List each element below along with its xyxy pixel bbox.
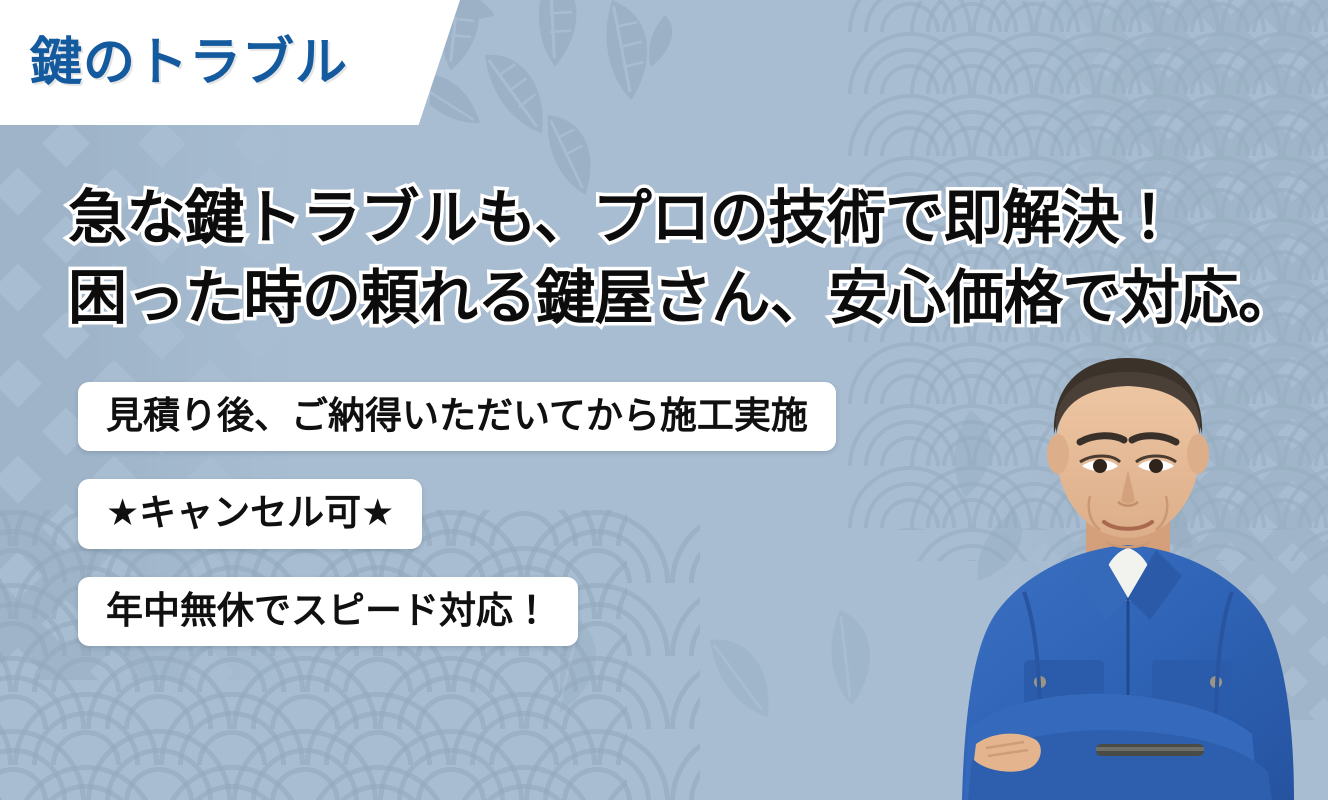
feature-label: 見積り後、ご納得いただいてから施工実施 bbox=[106, 395, 808, 436]
feature-label: ★キャンセル可★ bbox=[106, 492, 394, 533]
staff-photo-figure bbox=[962, 358, 1294, 800]
header-ribbon: 鍵のトラブル bbox=[0, 0, 460, 125]
headline-line-2: 困った時の頼れる鍵屋さん、安心価格で対応。 bbox=[68, 258, 1278, 338]
feature-list: 見積り後、ご納得いただいてから施工実施 ★キャンセル可★ 年中無休でスピード対応… bbox=[78, 382, 836, 646]
feature-label: 年中無休でスピード対応！ bbox=[106, 590, 550, 631]
pupil-right bbox=[1149, 459, 1163, 473]
page-title: 鍵のトラブル bbox=[30, 37, 348, 89]
ear-right bbox=[1187, 434, 1209, 474]
ad-banner: 鍵のトラブル 急な鍵トラブルも、プロの技術で即解決！ 困った時の頼れる鍵屋さん、… bbox=[0, 0, 1328, 800]
ear-left bbox=[1047, 434, 1069, 474]
feature-pill: 年中無休でスピード対応！ bbox=[78, 577, 578, 646]
feature-pill: ★キャンセル可★ bbox=[78, 479, 422, 548]
headline-line-1: 急な鍵トラブルも、プロの技術で即解決！ bbox=[68, 178, 1278, 258]
pupil-left bbox=[1093, 459, 1107, 473]
staff-photo bbox=[928, 330, 1328, 800]
zipper-teeth bbox=[1096, 747, 1204, 751]
headline-block: 急な鍵トラブルも、プロの技術で即解決！ 困った時の頼れる鍵屋さん、安心価格で対応… bbox=[68, 178, 1278, 338]
feature-pill: 見積り後、ご納得いただいてから施工実施 bbox=[78, 382, 836, 451]
